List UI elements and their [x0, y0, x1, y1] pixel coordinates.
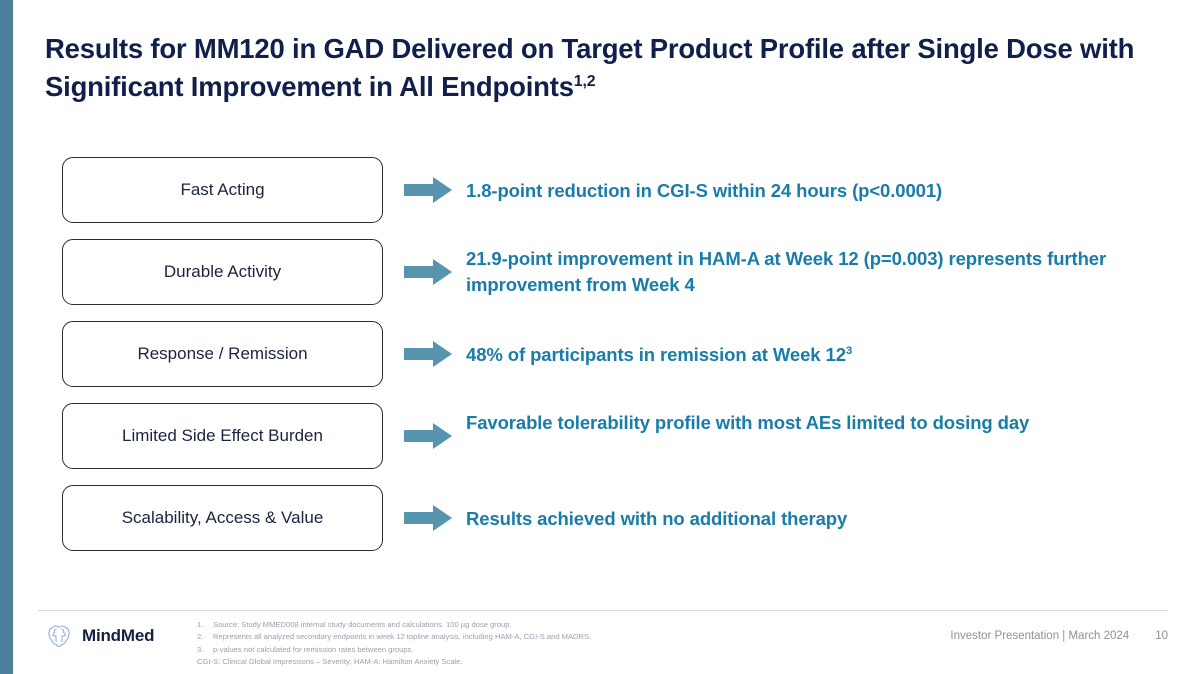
brand-logo: MindMed — [45, 622, 154, 650]
detail-text: Favorable tolerability profile with most… — [466, 410, 1166, 436]
footnote-number: 3. — [197, 644, 208, 656]
pillar-box-response-remission[interactable]: Response / Remission — [62, 321, 383, 387]
right-arrow-icon — [404, 259, 452, 285]
footnote-text: Source: Study MMED008 internal study doc… — [213, 619, 512, 631]
detail-label: 48% of participants in remission at Week… — [466, 344, 846, 365]
footer-divider — [38, 610, 1168, 611]
detail-label: 21.9-point improvement in HAM-A at Week … — [466, 248, 1106, 295]
footnotes: 1. Source: Study MMED008 internal study … — [197, 619, 837, 668]
footer-meta: Investor Presentation | March 2024 10 — [950, 630, 1168, 642]
right-arrow-icon — [404, 505, 452, 531]
detail-text: Results achieved with no additional ther… — [466, 506, 1166, 532]
pillar-label: Scalability, Access & Value — [122, 508, 324, 528]
content-row: Response / Remission 48% of participants… — [0, 314, 1200, 396]
detail-text: 21.9-point improvement in HAM-A at Week … — [466, 246, 1166, 299]
right-arrow-icon — [404, 341, 452, 367]
footnote-item: 2. Represents all analyzed secondary end… — [197, 631, 837, 643]
footnote-item: 1. Source: Study MMED008 internal study … — [197, 619, 837, 631]
detail-label: Favorable tolerability profile with most… — [466, 412, 1029, 433]
pillar-label: Limited Side Effect Burden — [122, 426, 323, 446]
pillar-label: Response / Remission — [137, 344, 307, 364]
footnote-item: 3. p-values not calculated for remission… — [197, 644, 837, 656]
page-title-line-1: Results for MM120 in GAD Delivered on Ta… — [45, 33, 1073, 64]
footnote-number: 2. — [197, 631, 208, 643]
detail-label: Results achieved with no additional ther… — [466, 508, 847, 529]
content-row: Durable Activity 21.9-point improvement … — [0, 232, 1200, 314]
right-arrow-icon — [404, 423, 452, 449]
brain-icon — [45, 622, 73, 650]
footnote-text: p-values not calculated for remission ra… — [213, 644, 414, 656]
presentation-label: Investor Presentation | March 2024 — [950, 630, 1129, 642]
pillar-label: Durable Activity — [164, 262, 281, 282]
pillar-label: Fast Acting — [180, 180, 264, 200]
page-title: Results for MM120 in GAD Delivered on Ta… — [45, 30, 1165, 106]
footnote-number: 1. — [197, 619, 208, 631]
pillar-box-durable-activity[interactable]: Durable Activity — [62, 239, 383, 305]
abbreviations-note: CGI-S: Clinical Global Impressions – Sev… — [197, 656, 837, 668]
footnote-text: Represents all analyzed secondary endpoi… — [213, 631, 591, 643]
detail-text: 48% of participants in remission at Week… — [466, 342, 1166, 368]
content-row: Scalability, Access & Value Results achi… — [0, 478, 1200, 560]
detail-text: 1.8-point reduction in CGI-S within 24 h… — [466, 178, 1166, 204]
page-number: 10 — [1155, 630, 1168, 642]
detail-label: 1.8-point reduction in CGI-S within 24 h… — [466, 180, 942, 201]
pillar-box-limited-side-effect-burden[interactable]: Limited Side Effect Burden — [62, 403, 383, 469]
detail-superscript: 3 — [846, 345, 852, 357]
brand-name: MindMed — [82, 626, 154, 646]
pillar-box-fast-acting[interactable]: Fast Acting — [62, 157, 383, 223]
pillar-box-scalability-access-value[interactable]: Scalability, Access & Value — [62, 485, 383, 551]
content-row: Limited Side Effect Burden Favorable tol… — [0, 396, 1200, 478]
right-arrow-icon — [404, 177, 452, 203]
page-title-superscript: 1,2 — [574, 73, 596, 90]
content-row: Fast Acting 1.8-point reduction in CGI-S… — [0, 150, 1200, 232]
